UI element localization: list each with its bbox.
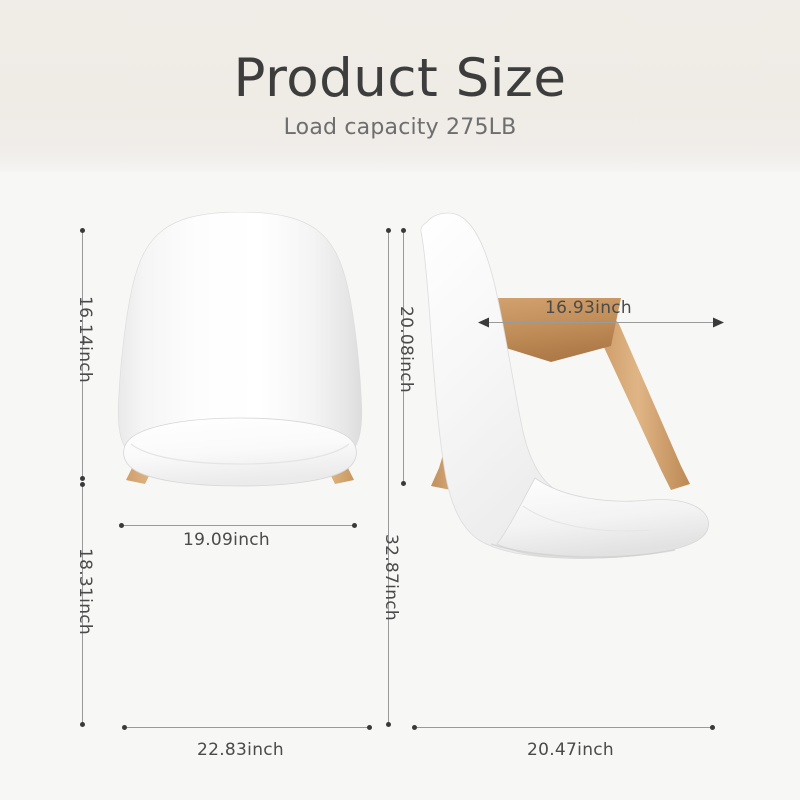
dim-label-backrest-height: 16.14inch bbox=[75, 296, 95, 383]
page-title: Product Size bbox=[0, 50, 800, 107]
dim-line-seat-width bbox=[122, 525, 355, 526]
front-cushion bbox=[124, 418, 357, 486]
arrowhead-left bbox=[478, 317, 490, 328]
chair-side-view bbox=[405, 210, 725, 772]
chair-front-view bbox=[95, 212, 385, 772]
dim-cap-top bbox=[401, 228, 406, 233]
side-cushion bbox=[497, 478, 709, 558]
dim-label-seat-width: 19.09inch bbox=[183, 530, 270, 550]
dim-cap-right bbox=[710, 725, 715, 730]
dim-cap-right bbox=[367, 725, 372, 730]
dim-label-overall-width: 22.83inch bbox=[197, 740, 284, 760]
dim-label-seat-depth: 16.93inch bbox=[545, 298, 632, 318]
product-size-infographic: Product Size Load capacity 275LB bbox=[0, 0, 800, 800]
dim-label-backrest-height-side: 20.08inch bbox=[396, 306, 416, 393]
dim-cap-top bbox=[80, 228, 85, 233]
dim-cap-left bbox=[122, 725, 127, 730]
dim-cap-bottom bbox=[386, 722, 391, 727]
arrowhead-right bbox=[712, 317, 724, 328]
diagram-area: 16.14inch 18.31inch 19.09inch 22.83inch … bbox=[0, 172, 800, 800]
dim-cap-left bbox=[119, 523, 124, 528]
dim-line-overall-width bbox=[125, 727, 370, 728]
dim-cap-left bbox=[412, 725, 417, 730]
dim-label-overall-height: 32.87inch bbox=[381, 534, 401, 621]
dim-cap-top bbox=[386, 228, 391, 233]
dim-label-seat-height: 18.31inch bbox=[75, 548, 95, 635]
dim-cap-bottom bbox=[80, 722, 85, 727]
dim-cap-top bbox=[80, 482, 85, 487]
dim-line-overall-height bbox=[388, 230, 389, 726]
dim-cap-bottom bbox=[401, 481, 406, 486]
page-subtitle: Load capacity 275LB bbox=[0, 115, 800, 140]
dim-cap-bottom bbox=[80, 476, 85, 481]
dim-line-seat-depth bbox=[484, 322, 716, 323]
dim-line-overall-depth bbox=[415, 727, 713, 728]
dim-label-overall-depth: 20.47inch bbox=[527, 740, 614, 760]
dim-cap-right bbox=[352, 523, 357, 528]
